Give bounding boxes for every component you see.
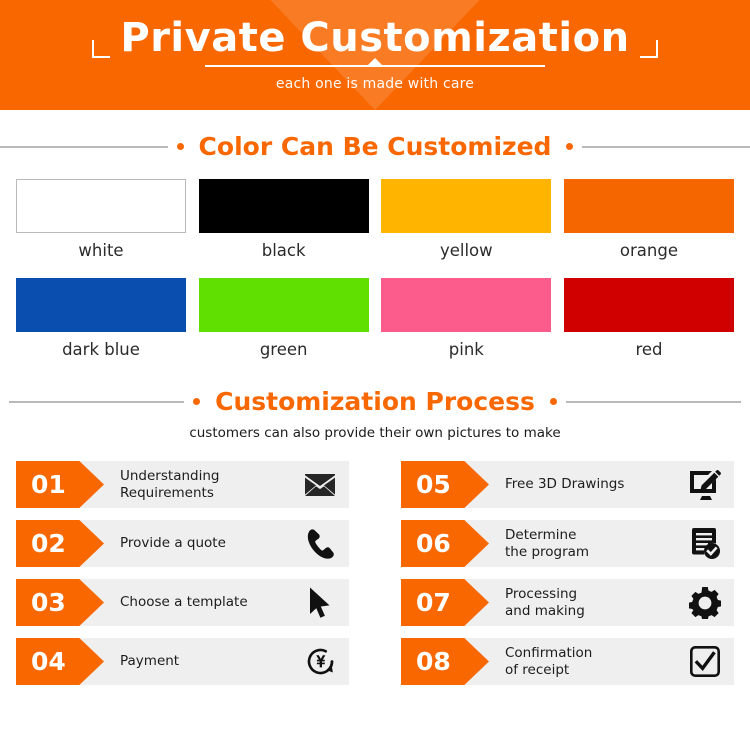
swatch-label: yellow	[381, 241, 551, 260]
swatch-cell[interactable]: white	[16, 179, 186, 260]
swatch-label: pink	[381, 340, 551, 359]
process-step-05[interactable]: 05 Free 3D Drawings	[401, 461, 734, 508]
envelope-icon	[297, 474, 349, 496]
monitor-pen-icon	[682, 470, 734, 500]
heading-line-left	[0, 146, 168, 148]
step-label: Understanding Requirements	[104, 468, 297, 501]
swatch-label: red	[564, 340, 734, 359]
step-label: Payment	[104, 653, 297, 669]
color-section: Color Can Be Customized white black yell…	[0, 132, 750, 359]
swatch-label: orange	[564, 241, 734, 260]
triangle-marker-icon	[368, 58, 382, 65]
swatch-label: black	[199, 241, 369, 260]
heading-dot-right-icon	[550, 398, 557, 405]
process-steps-grid: 01 Understanding Requirements 05 Free 3D…	[0, 461, 750, 685]
step-number-badge: 06	[401, 520, 489, 567]
step-label: Confirmation of receipt	[489, 645, 682, 678]
heading-line-left	[9, 401, 184, 403]
checkbox-icon	[682, 646, 734, 677]
step-number-badge: 01	[16, 461, 104, 508]
step-label: Processing and making	[489, 586, 682, 619]
swatch-row-1: white black yellow orange	[0, 179, 750, 260]
swatch-dark-blue[interactable]	[16, 278, 186, 332]
document-check-icon	[682, 528, 734, 559]
swatch-label: green	[199, 340, 369, 359]
process-step-02[interactable]: 02 Provide a quote	[16, 520, 349, 567]
swatch-row-2: dark blue green pink red	[0, 278, 750, 359]
step-number-badge: 04	[16, 638, 104, 685]
heading-line-right	[566, 401, 741, 403]
process-heading-text: Customization Process	[209, 387, 541, 416]
swatch-cell[interactable]: dark blue	[16, 278, 186, 359]
swatch-cell[interactable]: pink	[381, 278, 551, 359]
process-subtitle: customers can also provide their own pic…	[0, 425, 750, 441]
step-number-badge: 02	[16, 520, 104, 567]
swatch-cell[interactable]: yellow	[381, 179, 551, 260]
swatch-pink[interactable]	[381, 278, 551, 332]
process-step-03[interactable]: 03 Choose a template	[16, 579, 349, 626]
bracket-left-decoration	[92, 24, 110, 58]
yen-refund-icon	[297, 646, 349, 677]
heading-line-right	[582, 146, 750, 148]
heading-dot-left-icon	[177, 143, 184, 150]
step-number-badge: 05	[401, 461, 489, 508]
step-label: Provide a quote	[104, 535, 297, 551]
step-label: Choose a template	[104, 594, 297, 610]
swatch-cell[interactable]: orange	[564, 179, 734, 260]
swatch-red[interactable]	[564, 278, 734, 332]
process-section-heading: Customization Process	[0, 387, 750, 416]
swatch-black[interactable]	[199, 179, 369, 233]
phone-icon	[297, 529, 349, 559]
swatch-green[interactable]	[199, 278, 369, 332]
process-step-06[interactable]: 06 Determine the program	[401, 520, 734, 567]
process-step-08[interactable]: 08 Confirmation of receipt	[401, 638, 734, 685]
color-section-heading: Color Can Be Customized	[0, 132, 750, 161]
swatch-cell[interactable]: black	[199, 179, 369, 260]
process-step-01[interactable]: 01 Understanding Requirements	[16, 461, 349, 508]
swatch-white[interactable]	[16, 179, 186, 233]
step-label: Determine the program	[489, 527, 682, 560]
bracket-right-decoration	[640, 24, 658, 58]
color-heading-text: Color Can Be Customized	[193, 132, 558, 161]
header-banner: Private Customization each one is made w…	[0, 0, 750, 110]
process-step-04[interactable]: 04 Payment	[16, 638, 349, 685]
gear-icon	[682, 587, 734, 619]
process-section: Customization Process customers can also…	[0, 387, 750, 685]
step-number-badge: 03	[16, 579, 104, 626]
swatch-cell[interactable]: green	[199, 278, 369, 359]
step-label: Free 3D Drawings	[489, 476, 682, 492]
swatch-label: dark blue	[16, 340, 186, 359]
heading-dot-left-icon	[193, 398, 200, 405]
cursor-arrow-icon	[297, 587, 349, 619]
step-number-badge: 08	[401, 638, 489, 685]
swatch-orange[interactable]	[564, 179, 734, 233]
swatch-cell[interactable]: red	[564, 278, 734, 359]
banner-subtitle: each one is made with care	[276, 76, 474, 92]
heading-dot-right-icon	[566, 143, 573, 150]
promo-page: Private Customization each one is made w…	[0, 0, 750, 756]
step-number-badge: 07	[401, 579, 489, 626]
process-step-07[interactable]: 07 Processing and making	[401, 579, 734, 626]
swatch-yellow[interactable]	[381, 179, 551, 233]
swatch-label: white	[16, 241, 186, 260]
title-underline	[205, 65, 545, 67]
